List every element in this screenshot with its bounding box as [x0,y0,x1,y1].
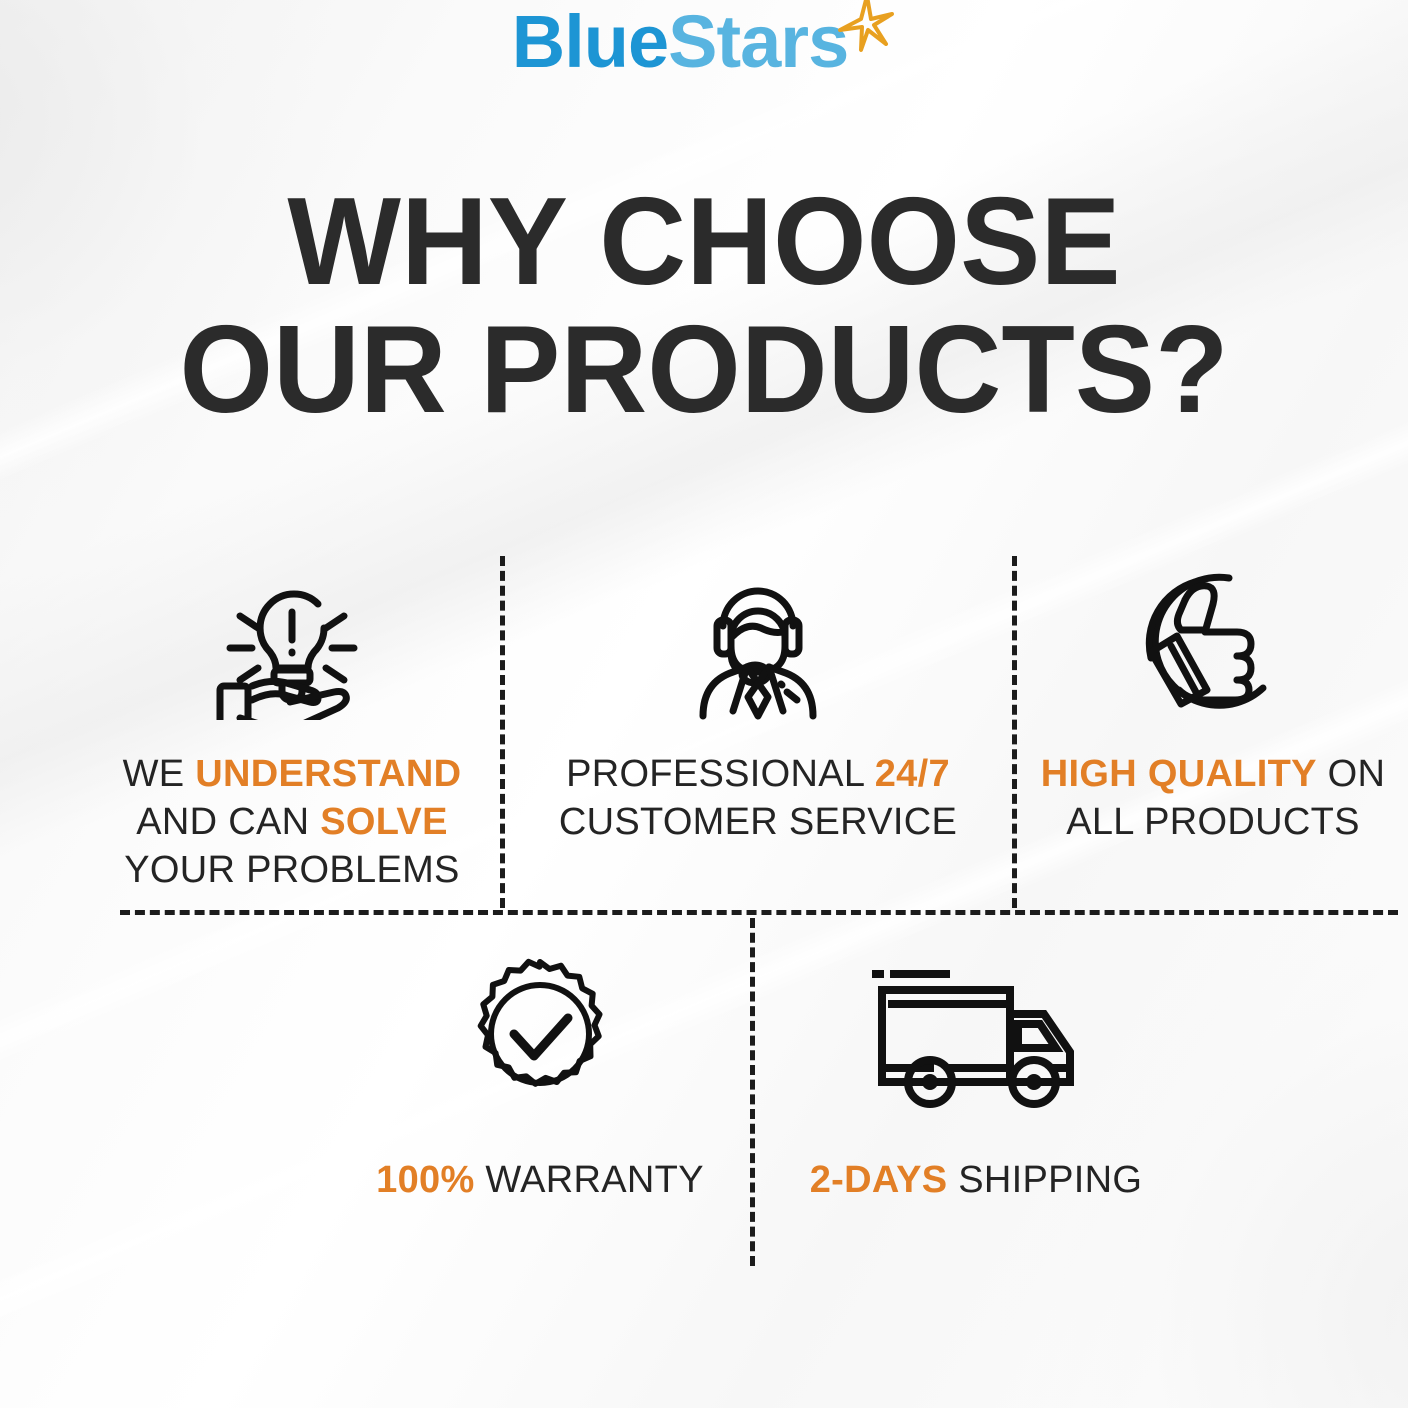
caption-text-plain: AND CAN [136,801,320,843]
caption-text-highlight: SOLVE [320,801,448,843]
feature-caption-high-quality: HIGH QUALITY ON ALL PRODUCTS [1040,750,1386,846]
lightbulb-in-hand-icon [110,548,474,720]
caption-text-plain: PROFESSIONAL [566,753,875,795]
caption-text-highlight: HIGH QUALITY [1041,753,1317,795]
brand-name-blue: Blue [512,2,668,82]
caption-text-plain: ALL PRODUCTS [1066,801,1360,843]
feature-warranty: 100% WARRANTY [360,940,720,1204]
caption-text-highlight: UNDERSTAND [195,753,461,795]
caption-text-plain: CUSTOMER SERVICE [559,801,957,843]
star-icon [834,0,896,59]
thumbs-up-circle-icon [1040,548,1386,720]
divider-vertical-row1-left [500,556,505,908]
divider-vertical-row1-right [1012,556,1017,908]
caption-text-highlight: 100% [376,1159,474,1201]
caption-text-plain: ON [1317,753,1385,795]
headset-agent-icon [556,548,960,720]
brand-name-stars: Stars [668,2,848,82]
feature-high-quality: HIGH QUALITY ON ALL PRODUCTS [1040,548,1386,846]
brand-logo: BlueStars [0,2,1408,82]
feature-understand-solve: WE UNDERSTAND AND CAN SOLVE YOUR PROBLEM… [110,548,474,894]
feature-caption-warranty: 100% WARRANTY [360,1156,720,1204]
feature-caption-customer-service: PROFESSIONAL 24/7 CUSTOMER SERVICE [556,750,960,846]
page-title-line-2: OUR PRODUCTS? [21,306,1387,434]
feature-customer-service: PROFESSIONAL 24/7 CUSTOMER SERVICE [556,548,960,846]
infographic-page: BlueStars WHY CHOOSE OUR PRODUCTS? [0,0,1408,1408]
caption-text-highlight: 24/7 [875,753,950,795]
feature-caption-understand-solve: WE UNDERSTAND AND CAN SOLVE YOUR PROBLEM… [110,750,474,894]
feature-caption-shipping: 2-DAYS SHIPPING [790,1156,1162,1204]
caption-text-plain: WARRANTY [475,1159,704,1201]
verified-badge-check-icon [360,940,720,1112]
divider-vertical-row2 [750,918,755,1266]
caption-text-plain: YOUR PROBLEMS [124,849,459,891]
caption-text-plain: WE [123,753,196,795]
caption-text-plain: SHIPPING [947,1159,1142,1201]
caption-text-highlight: 2-DAYS [810,1159,948,1201]
page-title: WHY CHOOSE OUR PRODUCTS? [21,178,1387,434]
feature-shipping: 2-DAYS SHIPPING [790,940,1162,1204]
divider-horizontal [120,910,1398,915]
page-title-line-1: WHY CHOOSE [21,178,1387,306]
delivery-truck-icon [790,940,1162,1112]
